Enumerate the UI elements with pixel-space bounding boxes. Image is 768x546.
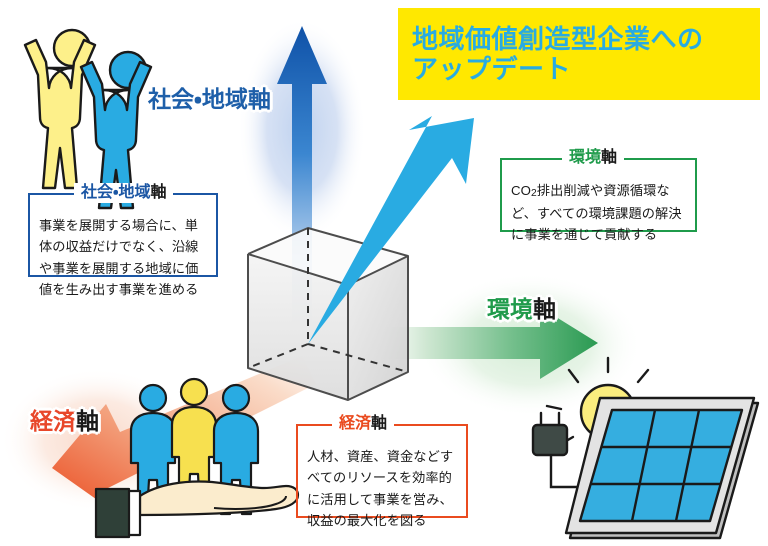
callout-frame-top-segment bbox=[394, 424, 468, 426]
axis-label-environment: 環境軸 bbox=[487, 290, 556, 324]
callout-environment-body: CO2排出削減や資源循環など、すべての環境課題の解決に事業を通じて貢献する bbox=[511, 180, 688, 246]
callout-frame-top-segment bbox=[624, 158, 697, 160]
callout-economy-header: 経済軸 bbox=[332, 414, 394, 434]
callout-social-header-keyword: 社会・地域 bbox=[81, 184, 150, 201]
callout-frame-top-segment bbox=[28, 193, 74, 195]
axis-label-economy-keyword: 経済 bbox=[30, 408, 76, 434]
axis-label-environment-keyword: 環境 bbox=[487, 296, 533, 322]
power-plug-icon bbox=[533, 413, 582, 487]
axis-label-economy: 経済軸 bbox=[30, 402, 99, 436]
title-banner: 地域価値創造型企業への アップデート bbox=[398, 8, 760, 100]
callout-frame-top-segment bbox=[500, 158, 562, 160]
axis-label-economy-suffix: 軸 bbox=[76, 408, 99, 434]
callout-economy: 経済軸 人材、資産、資金などすべてのリソースを効率的に活用して事業を営み、収益の… bbox=[296, 424, 468, 518]
infographic-canvas: 地域価値創造型企業への アップデート 社会・地域軸 環境軸 経済軸 社会・地域軸… bbox=[0, 0, 768, 546]
title-line-1: 地域価値創造型企業への bbox=[412, 24, 760, 54]
callout-environment-header: 環境軸 bbox=[562, 148, 624, 168]
callout-social-header: 社会・地域軸 bbox=[74, 183, 173, 203]
callout-environment: 環境軸 CO2排出削減や資源循環など、すべての環境課題の解決に事業を通じて貢献す… bbox=[500, 158, 697, 232]
axis-label-environment-suffix: 軸 bbox=[533, 296, 556, 322]
cheering-people-illustration bbox=[25, 30, 151, 208]
callout-frame-top-segment bbox=[296, 424, 332, 426]
callout-frame-top-segment bbox=[173, 193, 218, 195]
callout-economy-header-keyword: 経済 bbox=[339, 415, 371, 432]
solar-panel bbox=[566, 398, 758, 538]
callout-social: 社会・地域軸 事業を展開する場合に、単体の収益だけでなく、沿線や事業を展開する地… bbox=[28, 193, 218, 277]
callout-environment-body-rest: 排出削減や資源循環など、すべての環境課題の解決に事業を通じて貢献する bbox=[511, 183, 682, 242]
callout-social-header-suffix: 軸 bbox=[150, 184, 166, 201]
title-line-2: アップデート bbox=[412, 54, 760, 84]
callout-environment-header-keyword: 環境 bbox=[569, 149, 601, 166]
callout-economy-body: 人材、資産、資金などすべてのリソースを効率的に活用して事業を営み、収益の最大化を… bbox=[307, 446, 459, 532]
callout-economy-header-suffix: 軸 bbox=[371, 415, 387, 432]
co2-prefix: CO bbox=[511, 183, 531, 198]
callout-environment-header-suffix: 軸 bbox=[601, 149, 617, 166]
axis-label-social: 社会・地域軸 bbox=[148, 80, 271, 114]
callout-social-body: 事業を展開する場合に、単体の収益だけでなく、沿線や事業を展開する地域に価値を生み… bbox=[39, 215, 209, 301]
